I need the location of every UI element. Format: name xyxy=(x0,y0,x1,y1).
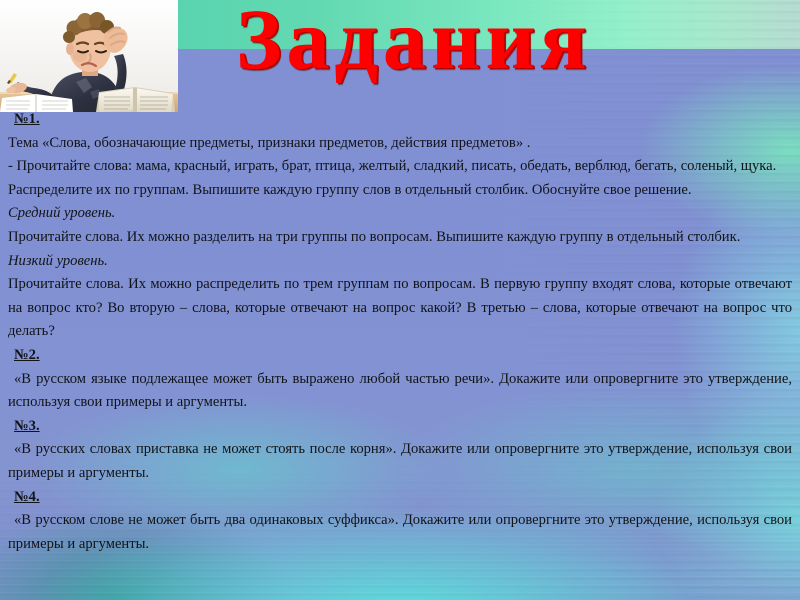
task-1-level-mid-label: Средний уровень. xyxy=(8,202,792,226)
slide-canvas: Задания №1. Тема «Слова, обозначающие пр… xyxy=(0,0,800,600)
boy-studying-illustration xyxy=(0,0,178,112)
tasks-body: №1. Тема «Слова, обозначающие предметы, … xyxy=(8,108,792,556)
page-title: Задания xyxy=(236,0,592,84)
task-1-read-words: - Прочитайте слова: мама, красный, играт… xyxy=(8,155,792,179)
task-3-number: №3. xyxy=(8,415,792,439)
task-2-number: №2. xyxy=(8,344,792,368)
task-4-number: №4. xyxy=(8,486,792,510)
boy-studying-photo xyxy=(0,0,178,112)
task-1-number: №1. xyxy=(8,108,792,132)
task-1-topic: Тема «Слова, обозначающие предметы, приз… xyxy=(8,132,792,156)
task-1-level-mid-text: Прочитайте слова. Их можно разделить на … xyxy=(8,226,792,250)
task-1-level-low-text: Прочитайте слова. Их можно распределить … xyxy=(8,273,792,344)
task-1-instruction: Распределите их по группам. Выпишите каж… xyxy=(8,179,792,203)
task-1-level-low-label: Низкий уровень. xyxy=(8,250,792,274)
task-2-text: «В русском языке подлежащее может быть в… xyxy=(8,368,792,415)
task-4-text: «В русском слове не может быть два одина… xyxy=(8,509,792,556)
task-3-text: «В русских словах приставка не может сто… xyxy=(8,438,792,485)
